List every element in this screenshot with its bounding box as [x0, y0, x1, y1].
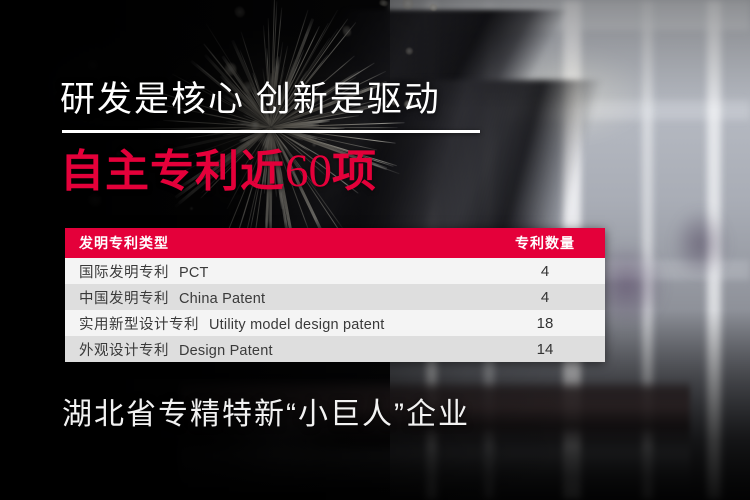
table-body: 国际发明专利PCT4中国发明专利China Patent4实用新型设计专利Uti…	[65, 258, 605, 362]
patent-type-en: PCT	[179, 265, 209, 281]
headline-secondary-prefix: 自主专利近	[60, 147, 285, 196]
patent-poster: 研发是核心 创新是驱动 自主专利近60项 发明专利类型 专利数量 国际发明专利P…	[0, 0, 750, 500]
cell-patent-count: 4	[485, 284, 605, 310]
headline-secondary: 自主专利近60项	[60, 148, 377, 195]
cell-patent-count: 14	[485, 336, 605, 362]
column-header-type: 发明专利类型	[65, 228, 485, 258]
table-row: 国际发明专利PCT4	[65, 258, 605, 284]
table-row: 外观设计专利Design Patent14	[65, 336, 605, 362]
headline-secondary-suffix: 项	[332, 147, 377, 196]
headline-primary: 研发是核心 创新是驱动	[60, 82, 441, 117]
cell-patent-count: 18	[485, 310, 605, 336]
cell-patent-type: 国际发明专利PCT	[65, 258, 485, 284]
cell-patent-type: 外观设计专利Design Patent	[65, 336, 485, 362]
patent-total-number: 60	[285, 145, 332, 197]
headline-divider	[62, 130, 480, 133]
table-row: 实用新型设计专利Utility model design patent18	[65, 310, 605, 336]
column-header-count: 专利数量	[485, 228, 605, 258]
patent-table: 发明专利类型 专利数量 国际发明专利PCT4中国发明专利China Patent…	[65, 228, 605, 362]
poster-caption: 湖北省专精特新“小巨人”企业	[62, 400, 470, 430]
table-header-row: 发明专利类型 专利数量	[65, 228, 605, 258]
cell-patent-type: 实用新型设计专利Utility model design patent	[65, 310, 485, 336]
patent-type-cn: 中国发明专利	[79, 291, 169, 307]
table-row: 中国发明专利China Patent4	[65, 284, 605, 310]
cell-patent-type: 中国发明专利China Patent	[65, 284, 485, 310]
poster-content: 研发是核心 创新是驱动 自主专利近60项 发明专利类型 专利数量 国际发明专利P…	[0, 0, 750, 500]
patent-type-en: Design Patent	[179, 343, 273, 359]
patent-type-cn: 外观设计专利	[79, 343, 169, 359]
patent-type-cn: 国际发明专利	[79, 265, 169, 281]
cell-patent-count: 4	[485, 258, 605, 284]
patent-type-en: China Patent	[179, 291, 265, 307]
patent-type-en: Utility model design patent	[209, 317, 384, 333]
patent-type-cn: 实用新型设计专利	[79, 317, 199, 333]
